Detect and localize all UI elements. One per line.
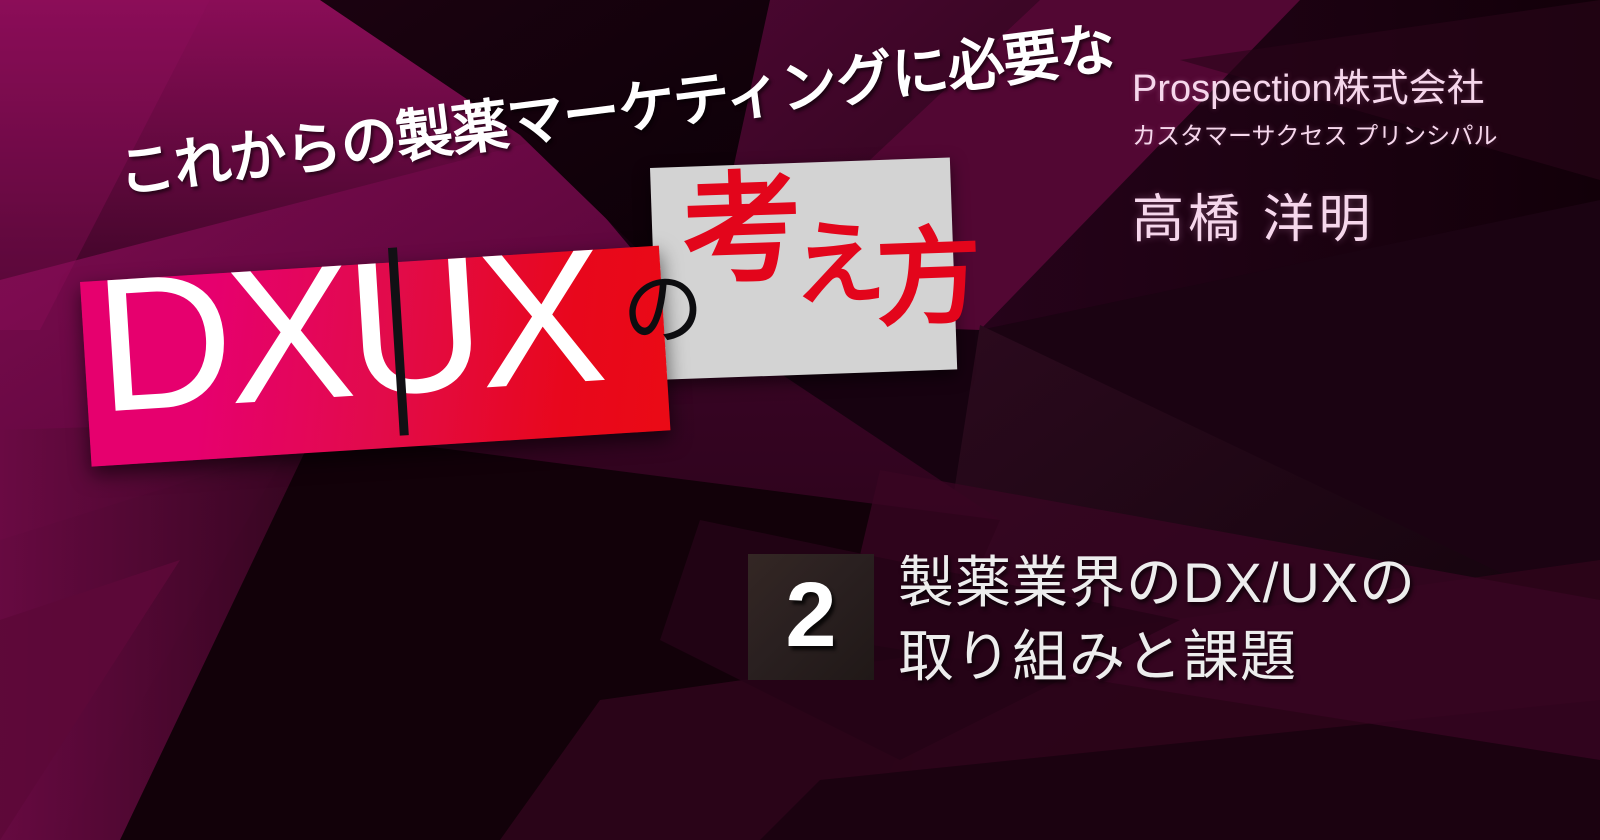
speaker-info: Prospection株式会社 カスタマーサクセス プリンシパル 高橋 洋明 — [1132, 68, 1497, 252]
speaker-role: カスタマーサクセス プリンシパル — [1132, 116, 1497, 151]
speaker-company: Prospection株式会社 — [1132, 68, 1497, 112]
speaker-name: 高橋 洋明 — [1132, 177, 1497, 252]
section-heading: 製薬業界のDX/UXの 取り組みと課題 — [898, 546, 1416, 694]
section-number-badge: 2 — [748, 554, 874, 680]
section-heading-line-2: 取り組みと課題 — [898, 620, 1416, 694]
section-number: 2 — [785, 569, 836, 661]
section-heading-line-1: 製薬業界のDX/UXの — [898, 546, 1416, 620]
presentation-slide: これからの製薬マーケティングに必要な 考 え 方 DXUX の Prospect… — [0, 0, 1600, 840]
